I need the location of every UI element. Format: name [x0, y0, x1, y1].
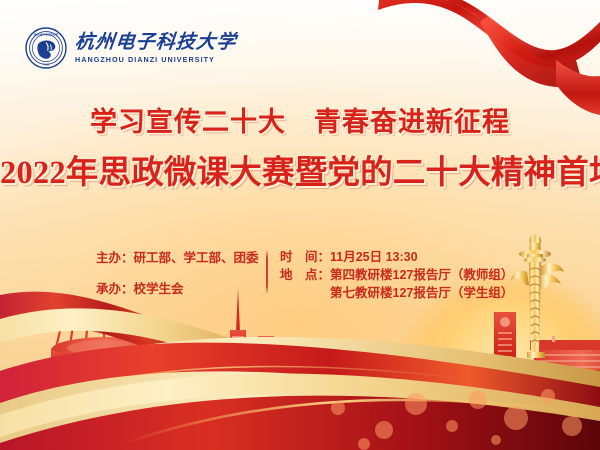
title-line-1: 学习宣传二十大 青春奋进新征程 — [0, 100, 600, 139]
logo-name-cn: 杭州电子科技大学 — [74, 33, 238, 52]
time-row: 时 间：11月25日 13:30 — [280, 248, 513, 266]
bokeh-lights-icon — [310, 360, 600, 450]
organizer-label: 主办： — [96, 251, 134, 265]
logo-name-en: HANGZHOU DIANZI UNIVERSITY — [75, 56, 237, 63]
organizer-value: 研工部、学工部、团委 — [134, 251, 259, 265]
university-logo: 杭州电子科技大学 1956 杭州电子科技大学 HANGZHOU DIANZI U… — [24, 26, 237, 70]
time-value: 11月25日 13:30 — [330, 250, 418, 264]
svg-text:杭州电子科技大学: 杭州电子科技大学 — [34, 31, 59, 36]
university-seal-icon: 杭州电子科技大学 1956 — [24, 26, 68, 70]
poster-title-block: 学习宣传二十大 青春奋进新征程 2022年思政微课大赛暨党的二十大精神首场巡讲 — [0, 100, 600, 193]
time-label: 时 间： — [280, 250, 330, 264]
event-poster: 杭州电子科技大学 1956 杭州电子科技大学 HANGZHOU DIANZI U… — [0, 0, 600, 450]
organizer-row: 主办：研工部、学工部、团委 — [96, 249, 256, 267]
title-line-2: 2022年思政微课大赛暨党的二十大精神首场巡讲 — [0, 146, 600, 193]
svg-text:1956: 1956 — [43, 62, 50, 66]
